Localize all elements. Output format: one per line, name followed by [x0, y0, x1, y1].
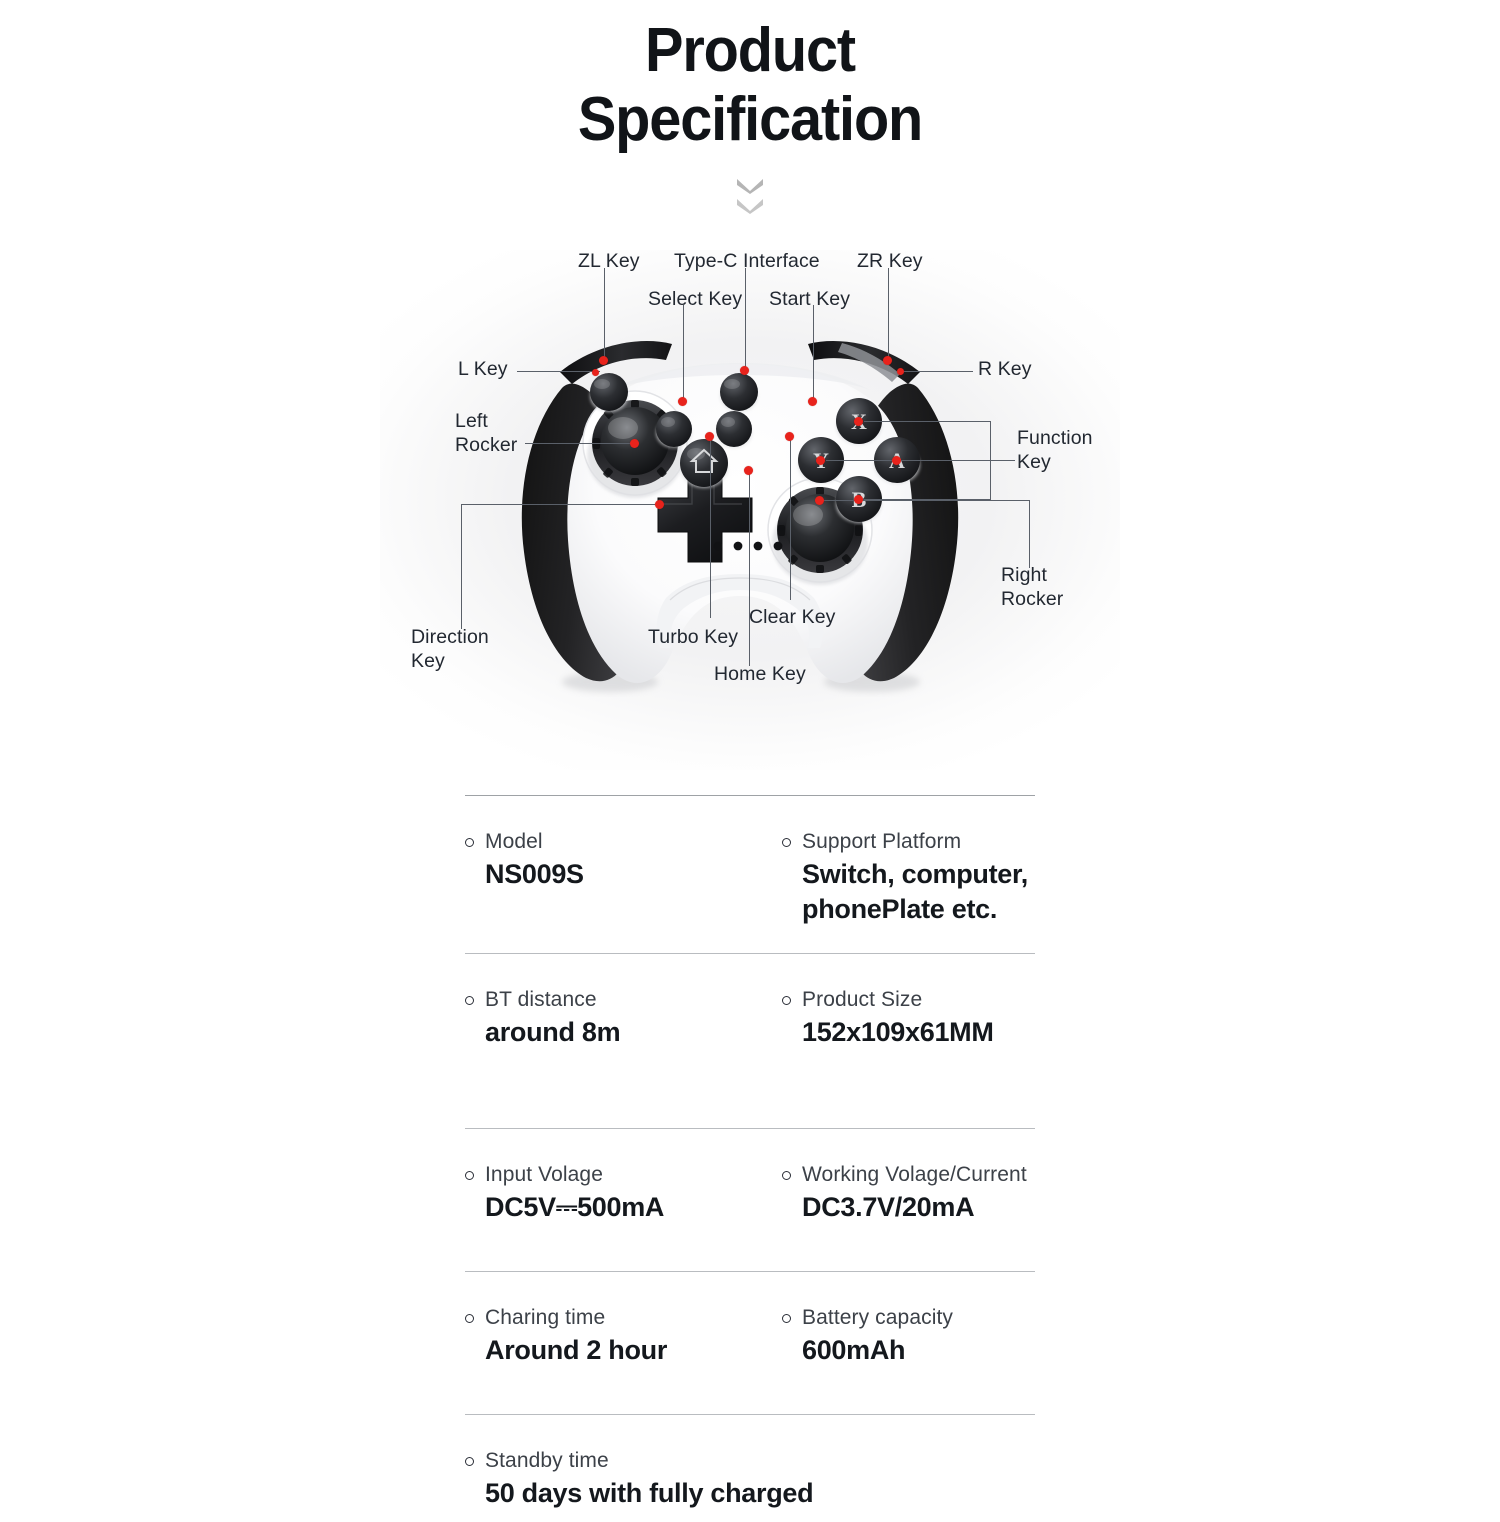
spec-label: BT distance [465, 988, 750, 1012]
product-diagram: X Y A B [0, 230, 1500, 790]
title-line-2: Specification [53, 85, 1448, 154]
anchor-right-rocker [815, 496, 824, 505]
spec-value: DC5V⎓500mA [485, 1190, 750, 1225]
spec-label-text: Support Platform [802, 830, 961, 854]
spec-label: Model [465, 830, 750, 854]
spec-label: Battery capacity [782, 1306, 1035, 1330]
spec-cell: BT distance around 8m [465, 988, 750, 1050]
leader-clear-key [790, 436, 791, 600]
leader-function-b [864, 499, 991, 500]
leader-function-ya [826, 460, 991, 461]
spec-row: Charing time Around 2 hour Battery capac… [465, 1272, 1035, 1414]
title-line-1: Product [53, 16, 1448, 85]
spec-label: Product Size [782, 988, 1035, 1012]
label-right-rocker: Right Rocker [1001, 564, 1063, 612]
spec-cell: Working Volage/Current DC3.7V/20mA [750, 1163, 1035, 1225]
scroll-hint [0, 177, 1500, 214]
spec-cell: Model NS009S [465, 830, 750, 927]
home-button-art [680, 439, 728, 488]
anchor-r-key [897, 368, 904, 375]
spec-value: DC3.7V/20mA [802, 1190, 1035, 1225]
spec-row: Standby time 50 days with fully charged [465, 1415, 1035, 1521]
spec-value: Around 2 hour [485, 1333, 750, 1368]
anchor-home-key [744, 466, 753, 475]
leader-select-key [683, 305, 684, 401]
spec-label-text: Charing time [485, 1306, 605, 1330]
spec-cell: Product Size 152x109x61MM [750, 988, 1035, 1050]
spec-cell: Charing time Around 2 hour [465, 1306, 750, 1368]
spec-label-text: Product Size [802, 988, 922, 1012]
leader-function-x [864, 421, 991, 422]
label-direction-key: Direction Key [411, 626, 489, 674]
anchor-function-y [816, 456, 825, 465]
bullet-icon [782, 996, 791, 1005]
spec-label-text: Input Volage [485, 1163, 603, 1187]
anchor-zl-key [599, 356, 608, 365]
spec-label: Charing time [465, 1306, 750, 1330]
chevron-down-icon [735, 177, 765, 194]
leader-type-c [745, 268, 746, 370]
spec-cell: Support Platform Switch, computer, phone… [750, 830, 1035, 927]
bullet-icon [782, 1314, 791, 1323]
label-clear-key: Clear Key [749, 606, 836, 630]
spec-label-text: Battery capacity [802, 1306, 953, 1330]
spec-label: Support Platform [782, 830, 1035, 854]
spec-label-text: BT distance [485, 988, 597, 1012]
leader-turbo-key [710, 436, 711, 618]
spec-row: BT distance around 8m Product Size 152x1… [465, 954, 1035, 1128]
spec-label: Working Volage/Current [782, 1163, 1035, 1187]
anchor-zr-key [883, 356, 892, 365]
label-zr-key: ZR Key [857, 250, 923, 274]
anchor-l-key [592, 369, 599, 376]
anchor-start-key [808, 397, 817, 406]
spec-value: around 8m [485, 1015, 750, 1050]
anchor-clear-key [785, 432, 794, 441]
leader-home-key [749, 470, 750, 666]
spec-value: 152x109x61MM [802, 1015, 1035, 1050]
spec-label-text: Model [485, 830, 543, 854]
bullet-icon [465, 1171, 474, 1180]
anchor-function-a [892, 456, 901, 465]
anchor-direction-key [655, 500, 664, 509]
chevron-down-icon-secondary [735, 197, 765, 214]
spec-cell: Input Volage DC5V⎓500mA [465, 1163, 750, 1225]
spec-row: Input Volage DC5V⎓500mA Working Volage/C… [465, 1129, 1035, 1271]
label-start-key: Start Key [769, 288, 850, 312]
spec-value: 50 days with fully charged [485, 1476, 1035, 1511]
label-zl-key: ZL Key [578, 250, 640, 274]
leader-zr-key [888, 268, 889, 360]
label-turbo-key: Turbo Key [648, 626, 738, 650]
leader-r-key [903, 371, 973, 372]
anchor-type-c [740, 366, 749, 375]
anchor-function-b [854, 495, 863, 504]
spec-label: Standby time [465, 1449, 1035, 1473]
spec-label: Input Volage [465, 1163, 750, 1187]
spec-value: Switch, computer, phonePlate etc. [802, 857, 1035, 927]
spec-cell: Standby time 50 days with fully charged [465, 1449, 1035, 1511]
spec-value: 600mAh [802, 1333, 1035, 1368]
leader-l-key [517, 371, 600, 372]
page-title: Product Specification [53, 0, 1448, 155]
anchor-turbo-key [705, 432, 714, 441]
bullet-icon [465, 838, 474, 847]
leader-left-rocker [525, 443, 635, 444]
bullet-icon [782, 838, 791, 847]
leader-zl-key [604, 268, 605, 360]
bullet-icon [465, 996, 474, 1005]
label-select-key: Select Key [648, 288, 742, 312]
label-left-rocker: Left Rocker [455, 410, 517, 458]
label-l-key: L Key [458, 358, 508, 382]
label-r-key: R Key [978, 358, 1032, 382]
bullet-icon [465, 1314, 474, 1323]
label-type-c-interface: Type-C Interface [674, 250, 820, 274]
controller-illustration: X Y A B [490, 330, 990, 700]
label-home-key: Home Key [714, 663, 806, 687]
specification-table: Model NS009S Support Platform Switch, co… [465, 795, 1035, 1522]
anchor-select-key [678, 397, 687, 406]
label-function-key: Function Key [1017, 427, 1093, 475]
bullet-icon [465, 1457, 474, 1466]
leader-start-key [813, 305, 814, 401]
leader-direction-key-v [461, 504, 462, 629]
spec-value: NS009S [485, 857, 750, 892]
anchor-left-rocker [630, 439, 639, 448]
leader-right-rocker-v [1029, 500, 1030, 568]
page-header: Product Specification [0, 0, 1500, 214]
spec-row: Model NS009S Support Platform Switch, co… [465, 796, 1035, 953]
bullet-icon [782, 1171, 791, 1180]
spec-label-text: Working Volage/Current [802, 1163, 1027, 1187]
spec-cell: Battery capacity 600mAh [750, 1306, 1035, 1368]
spec-label-text: Standby time [485, 1449, 609, 1473]
leader-function-stem [990, 460, 1015, 461]
leader-direction-key-h [461, 504, 661, 505]
anchor-function-x [854, 417, 863, 426]
